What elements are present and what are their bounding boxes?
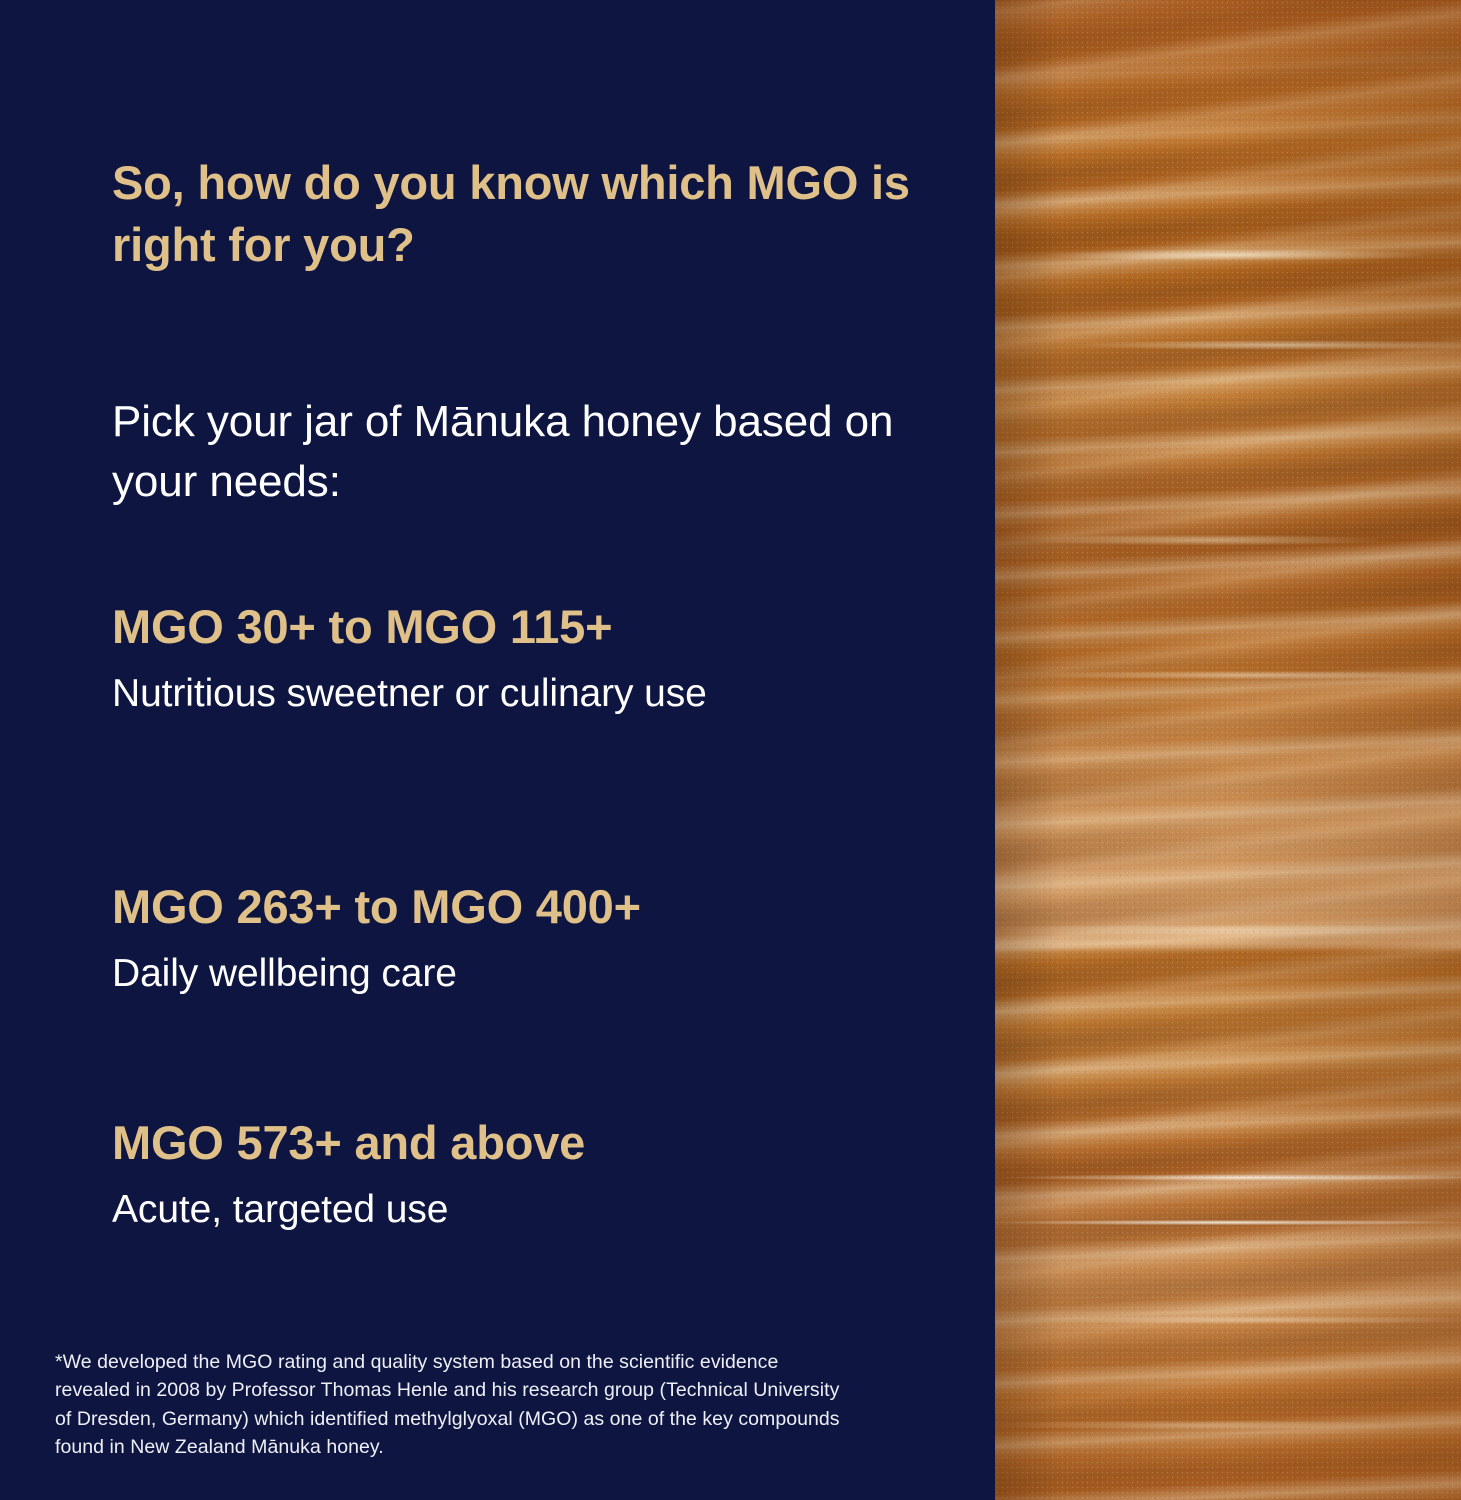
mgo-tier-mid: MGO 263+ to MGO 400+ Daily wellbeing car… <box>112 880 972 1000</box>
footnote-disclaimer: *We developed the MGO rating and quality… <box>55 1348 960 1461</box>
mgo-tier-mid-description: Daily wellbeing care <box>112 948 972 999</box>
footnote-line-4: found in New Zealand Mānuka honey. <box>55 1433 960 1461</box>
footnote-line-3: of Dresden, Germany) which identified me… <box>55 1405 960 1433</box>
mgo-tier-high-heading: MGO 573+ and above <box>112 1116 972 1170</box>
footnote-line-2: revealed in 2008 by Professor Thomas Hen… <box>55 1376 960 1404</box>
honey-texture-photo <box>995 0 1461 1500</box>
footnote-line-1: *We developed the MGO rating and quality… <box>55 1348 960 1376</box>
mgo-tier-low: MGO 30+ to MGO 115+ Nutritious sweetner … <box>112 600 972 720</box>
lead-instruction-text: Pick your jar of Mānuka honey based on y… <box>112 392 952 512</box>
question-heading: So, how do you know which MGO is right f… <box>112 152 922 276</box>
mgo-tier-low-heading: MGO 30+ to MGO 115+ <box>112 600 972 654</box>
honey-edge-shading <box>995 0 1461 1500</box>
mgo-tier-low-description: Nutritious sweetner or culinary use <box>112 668 972 719</box>
mgo-tier-high: MGO 573+ and above Acute, targeted use <box>112 1116 972 1236</box>
manuka-honey-mgo-infographic: So, how do you know which MGO is right f… <box>0 0 1461 1500</box>
mgo-tier-high-description: Acute, targeted use <box>112 1184 972 1235</box>
mgo-tier-mid-heading: MGO 263+ to MGO 400+ <box>112 880 972 934</box>
content-panel: So, how do you know which MGO is right f… <box>0 0 995 1500</box>
